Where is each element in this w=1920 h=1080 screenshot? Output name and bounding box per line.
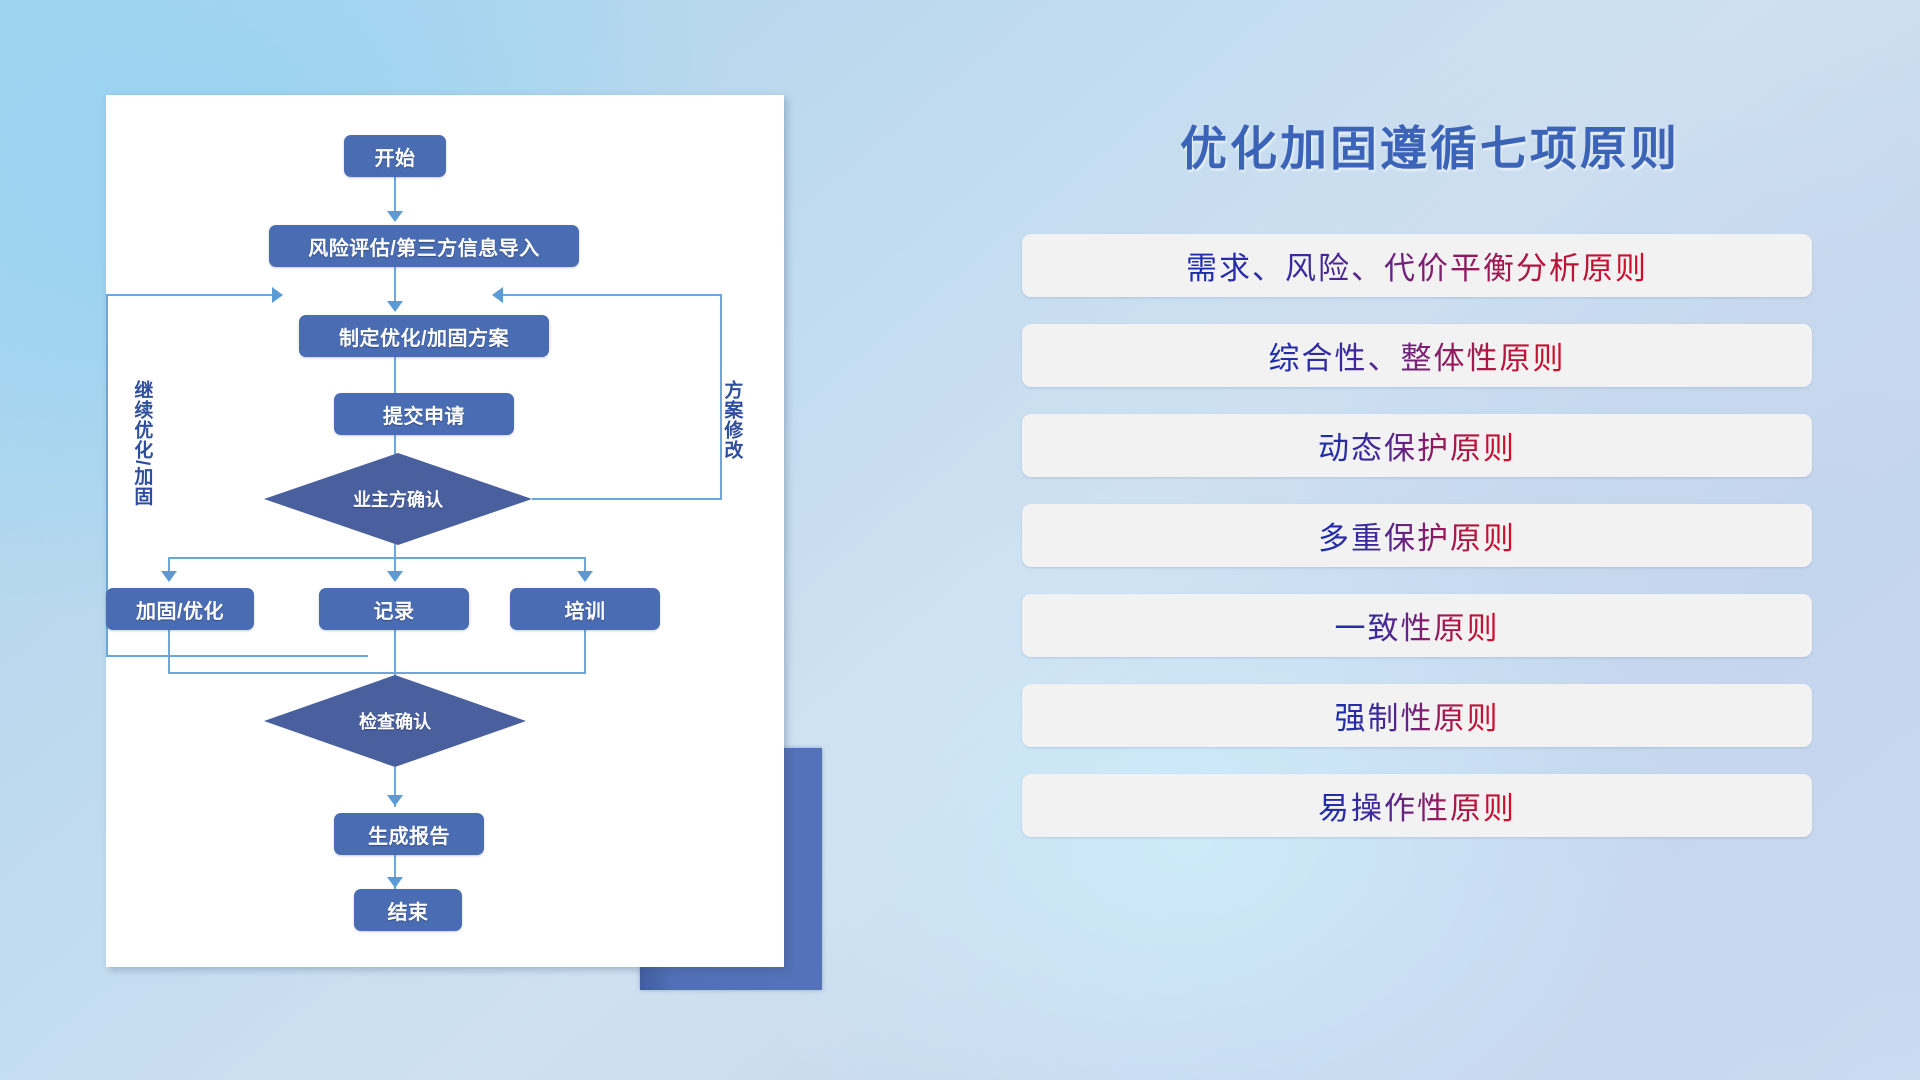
node-end[interactable]: 结束	[354, 889, 462, 931]
principle-item[interactable]: 综合性、整体性原则	[1022, 324, 1812, 387]
edge-label-plan-revision: 方案修改	[722, 380, 741, 460]
principle-label: 一致性原则	[1335, 603, 1500, 648]
principle-label: 多重保护原则	[1318, 513, 1516, 558]
principle-item[interactable]: 一致性原则	[1022, 594, 1812, 657]
principle-label: 动态保护原则	[1318, 423, 1516, 468]
connector-reinforce-down	[168, 628, 170, 674]
arrowhead-to-training	[577, 571, 593, 582]
connector-risk-to-plan	[394, 265, 396, 305]
connector-right-loop-vertical	[720, 294, 722, 500]
node-risk-assessment[interactable]: 风险评估/第三方信息导入	[269, 225, 579, 267]
arrowhead-start-to-risk	[387, 211, 403, 222]
slide-canvas: 继续优化/加固 方案修改	[0, 0, 1920, 1080]
principle-label: 强制性原则	[1335, 693, 1500, 738]
arrowhead-right-loop-into-plan	[492, 287, 503, 303]
node-reinforce-optimize[interactable]: 加固/优化	[106, 588, 254, 630]
principles-list: 需求、风险、代价平衡分析原则 综合性、整体性原则 动态保护原则 多重保护原则 一…	[1022, 234, 1812, 864]
flowchart-card: 继续优化/加固 方案修改	[106, 95, 784, 967]
principle-item[interactable]: 易操作性原则	[1022, 774, 1812, 837]
node-generate-report[interactable]: 生成报告	[334, 813, 484, 855]
node-record[interactable]: 记录	[319, 588, 469, 630]
principle-item[interactable]: 强制性原则	[1022, 684, 1812, 747]
node-check-confirm[interactable]: 检查确认	[264, 675, 526, 767]
arrowhead-check-to-report	[387, 795, 403, 806]
principle-label: 需求、风险、代价平衡分析原则	[1186, 243, 1648, 288]
connector-training-down	[584, 628, 586, 674]
principle-label: 易操作性原则	[1318, 783, 1516, 828]
arrowhead-risk-to-plan	[387, 301, 403, 312]
principles-title: 优化加固遵循七项原则	[1020, 110, 1840, 179]
node-training[interactable]: 培训	[510, 588, 660, 630]
edge-label-continue-optimize: 继续优化/加固	[132, 380, 151, 506]
arrowhead-to-record	[387, 571, 403, 582]
principle-item[interactable]: 动态保护原则	[1022, 414, 1812, 477]
principle-item[interactable]: 多重保护原则	[1022, 504, 1812, 567]
connector-owner-right-out	[532, 498, 722, 500]
arrowhead-left-loop-into-plan	[272, 287, 283, 303]
connector-merge-bus	[168, 672, 586, 674]
node-owner-confirm[interactable]: 业主方确认	[264, 453, 532, 545]
node-start[interactable]: 开始	[344, 135, 446, 177]
connector-right-loop-top	[502, 294, 722, 296]
principle-label: 综合性、整体性原则	[1269, 333, 1566, 378]
connector-check-left-out	[106, 655, 368, 657]
node-submit-application[interactable]: 提交申请	[334, 393, 514, 435]
arrowhead-report-to-end	[387, 877, 403, 888]
node-make-plan[interactable]: 制定优化/加固方案	[299, 315, 549, 357]
arrowhead-to-reinforce	[161, 571, 177, 582]
connector-branch-bus	[168, 557, 586, 559]
connector-left-loop-top	[106, 294, 274, 296]
principle-item[interactable]: 需求、风险、代价平衡分析原则	[1022, 234, 1812, 297]
connector-plan-to-submit	[394, 355, 396, 395]
connector-start-to-risk	[394, 175, 396, 215]
